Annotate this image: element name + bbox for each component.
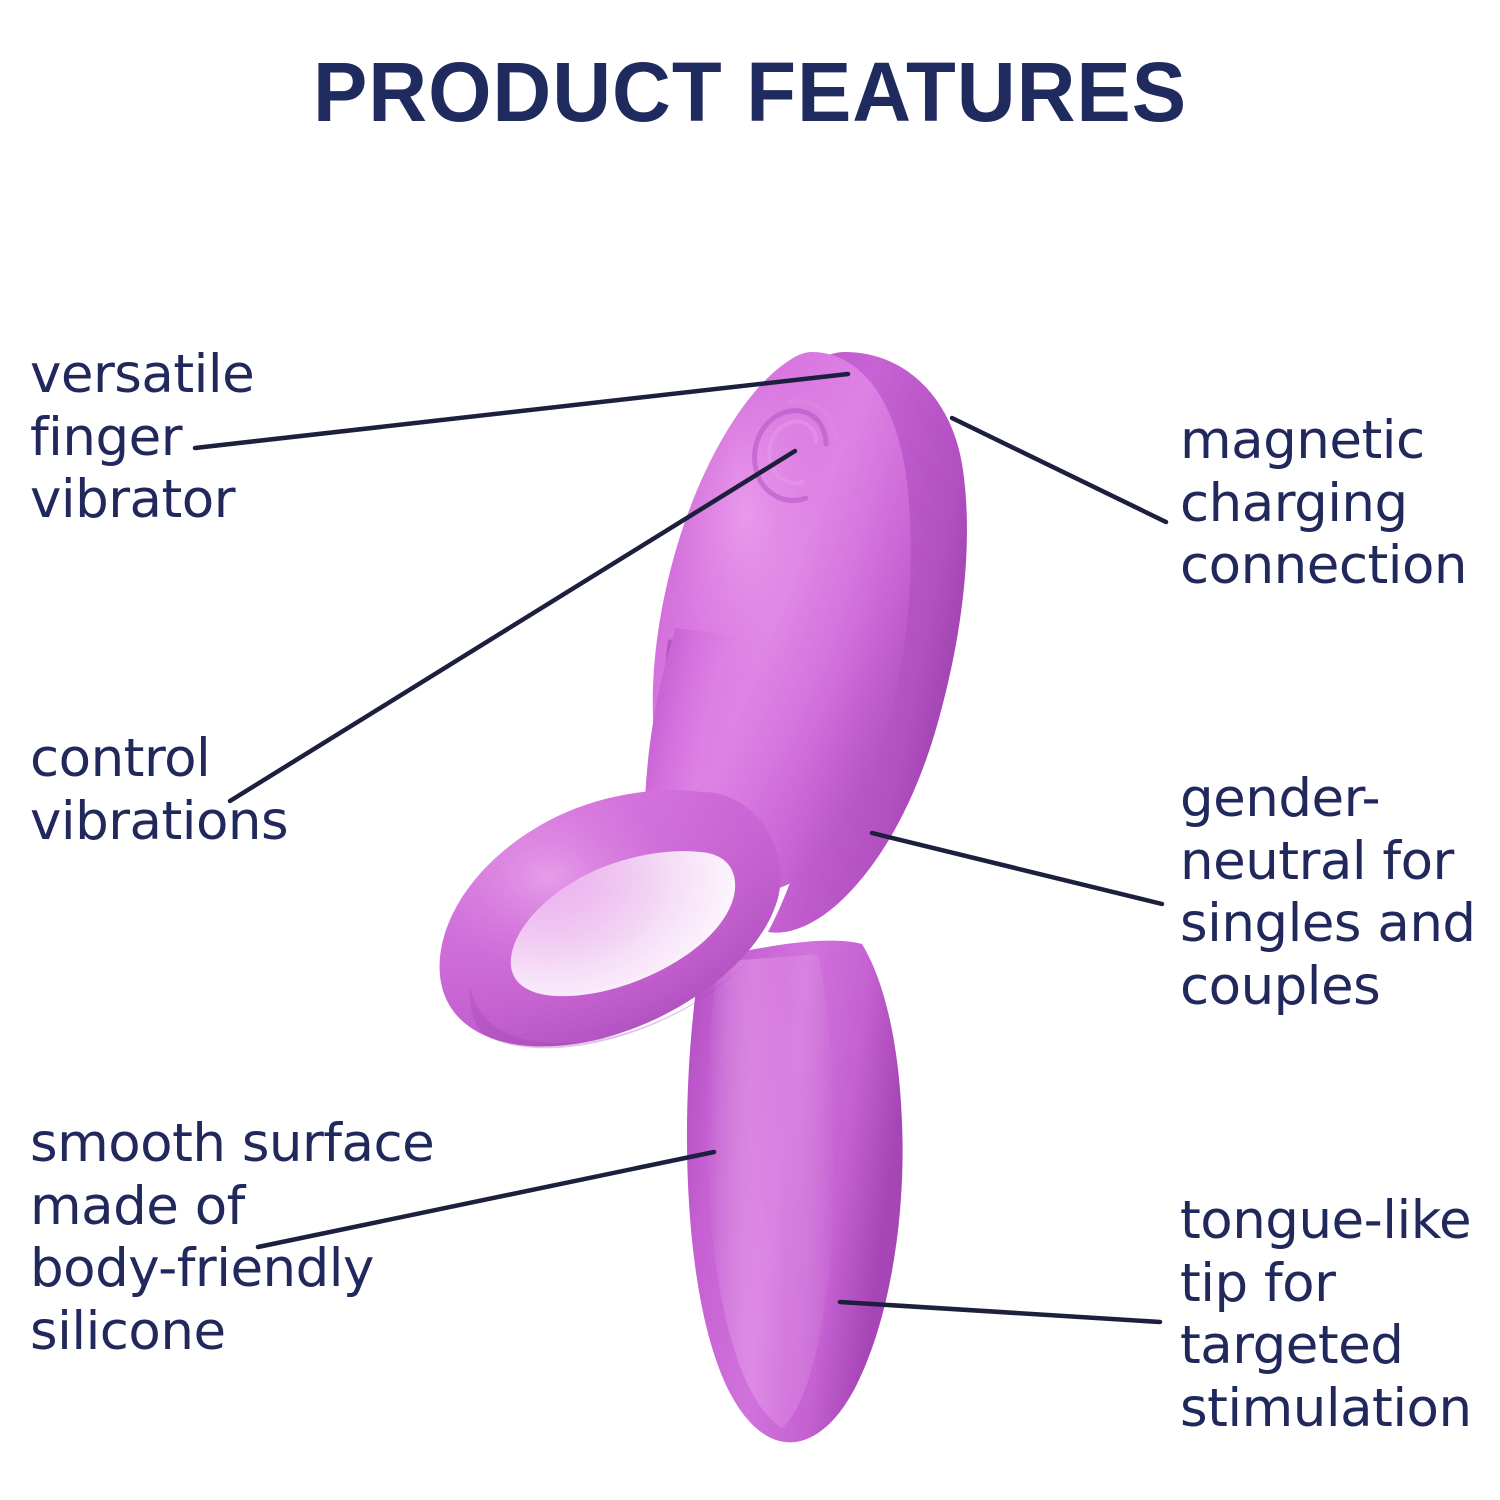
product-features-infographic: PRODUCT FEATURES — [0, 0, 1500, 1500]
callout-gender-neutral: gender- neutral for singles and couples — [1180, 768, 1476, 1018]
callout-smooth-surface-silicone: smooth surface made of body-friendly sil… — [30, 1113, 434, 1363]
callout-versatile-finger-vibrator: versatile finger vibrator — [30, 344, 254, 532]
callout-tongue-like-tip: tongue-like tip for targeted stimulation — [1180, 1190, 1472, 1440]
callout-magnetic-charging-connection: magnetic charging connection — [1180, 410, 1467, 598]
callout-control-vibrations: control vibrations — [30, 728, 288, 853]
